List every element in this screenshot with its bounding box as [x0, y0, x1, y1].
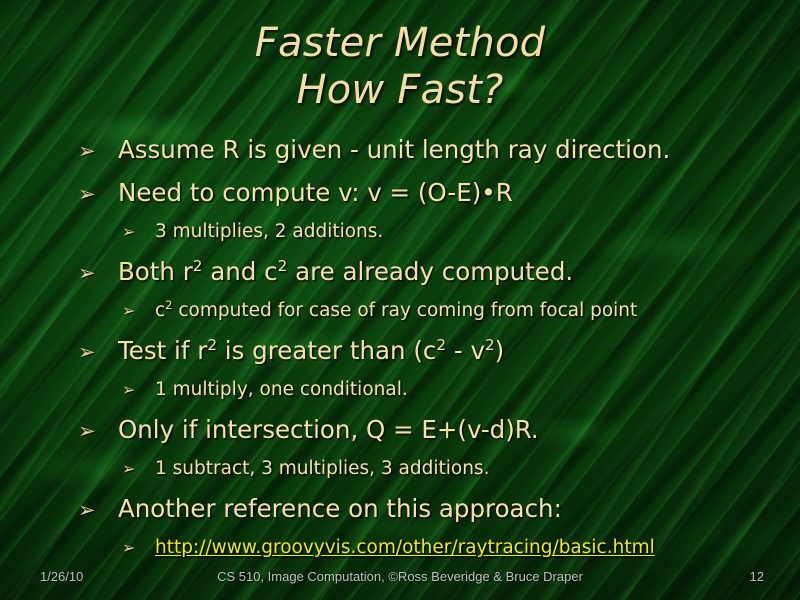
bullet-arrow-icon: ➢: [78, 182, 118, 207]
bullet-item: ➢c2 computed for case of ray coming from…: [78, 302, 778, 339]
bullet-link[interactable]: http://www.groovyvis.com/other/raytracin…: [155, 539, 778, 558]
bullet-text: Only if intersection, Q = E+(v-d)R.: [118, 418, 778, 443]
bullet-arrow-icon: ➢: [122, 302, 155, 321]
bullet-text: c2 computed for case of ray coming from …: [155, 302, 778, 321]
bullet-arrow-icon: ➢: [78, 340, 118, 365]
slide-title-line-1: Faster Method: [0, 20, 800, 67]
bullet-item: ➢1 multiply, one conditional.: [78, 381, 778, 418]
bullet-item: ➢Assume R is given - unit length ray dir…: [78, 138, 778, 181]
presentation-slide: Faster Method How Fast? ➢Assume R is giv…: [0, 0, 800, 600]
bullet-text: Both r2 and c2 are already computed.: [118, 260, 778, 285]
superscript: 2: [485, 335, 495, 353]
bullet-text: 3 multiplies, 2 additions.: [155, 223, 778, 242]
slide-title: Faster Method How Fast?: [0, 20, 800, 114]
bullet-item: ➢3 multiplies, 2 additions.: [78, 223, 778, 260]
bullet-text: 1 multiply, one conditional.: [155, 381, 778, 400]
footer-attribution: CS 510, Image Computation, ©Ross Beverid…: [0, 568, 800, 586]
footer-page-number: 12: [750, 568, 764, 586]
bullet-item: ➢Another reference on this approach:: [78, 497, 778, 540]
bullet-text: Assume R is given - unit length ray dire…: [118, 138, 778, 163]
bullet-arrow-icon: ➢: [122, 223, 155, 242]
bullet-arrow-icon: ➢: [78, 139, 118, 164]
slide-footer: 1/26/10 CS 510, Image Computation, ©Ross…: [0, 568, 800, 586]
bullet-item: ➢1 subtract, 3 multiplies, 3 additions.: [78, 460, 778, 497]
slide-bullet-list: ➢Assume R is given - unit length ray dir…: [78, 138, 778, 576]
bullet-text: Need to compute v: v = (O-E)•R: [118, 181, 778, 206]
bullet-arrow-icon: ➢: [122, 460, 155, 479]
bullet-item: ➢Test if r2 is greater than (c2 - v2): [78, 339, 778, 382]
bullet-item: ➢Need to compute v: v = (O-E)•R: [78, 181, 778, 224]
bullet-text: 1 subtract, 3 multiplies, 3 additions.: [155, 460, 778, 479]
bullet-text: Test if r2 is greater than (c2 - v2): [118, 339, 778, 364]
bullet-arrow-icon: ➢: [122, 381, 155, 400]
bullet-item: ➢Only if intersection, Q = E+(v-d)R.: [78, 418, 778, 461]
bullet-arrow-icon: ➢: [122, 539, 155, 558]
slide-title-line-2: How Fast?: [0, 67, 800, 114]
bullet-arrow-icon: ➢: [78, 261, 118, 286]
bullet-text: Another reference on this approach:: [118, 497, 778, 522]
bullet-arrow-icon: ➢: [78, 419, 118, 444]
superscript: 2: [278, 256, 288, 274]
superscript: 2: [436, 335, 446, 353]
bullet-item: ➢Both r2 and c2 are already computed.: [78, 260, 778, 303]
bullet-arrow-icon: ➢: [78, 498, 118, 523]
superscript: 2: [207, 335, 217, 353]
